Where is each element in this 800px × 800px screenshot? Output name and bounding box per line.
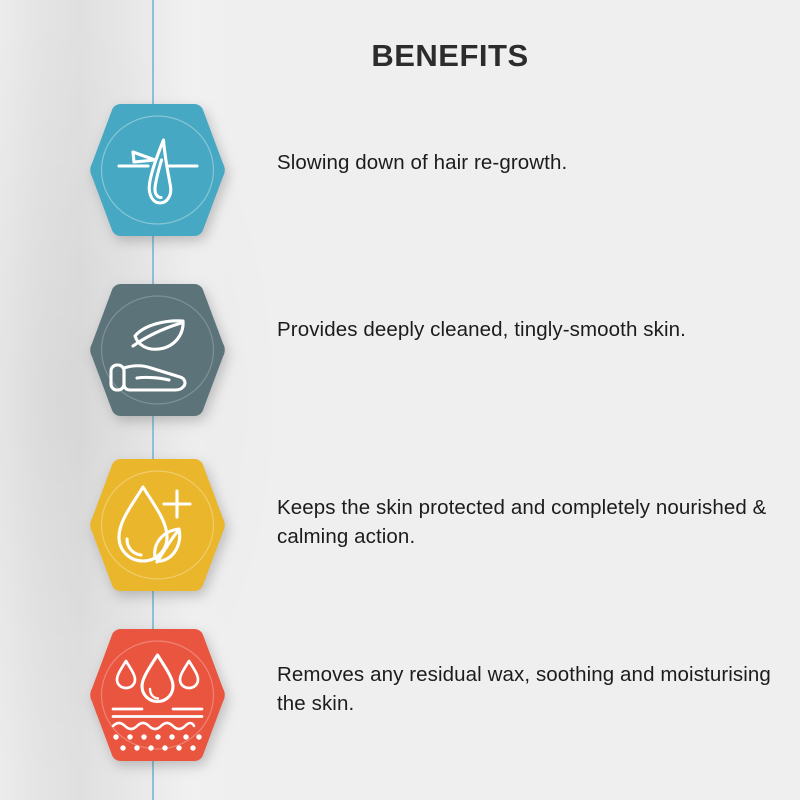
benefit-text-4: Removes any residual wax, soothing and m… [277,660,777,718]
benefit-text-3: Keeps the skin protected and completely … [277,493,777,551]
infographic-canvas: BENEFITS Slowing down of hair [0,0,800,800]
benefit-icon-badge-2[interactable] [85,280,230,420]
benefit-text-2: Provides deeply cleaned, tingly-smooth s… [277,315,777,344]
page-title: BENEFITS [240,38,660,74]
benefit-text-1: Slowing down of hair re-growth. [277,148,777,177]
hexagon-shape-3 [90,459,224,591]
benefit-icon-badge-4[interactable] [85,625,230,765]
benefit-icon-badge-1[interactable] [85,100,230,240]
benefit-icon-badge-3[interactable] [85,455,230,595]
hexagon-shape-4 [90,629,224,761]
